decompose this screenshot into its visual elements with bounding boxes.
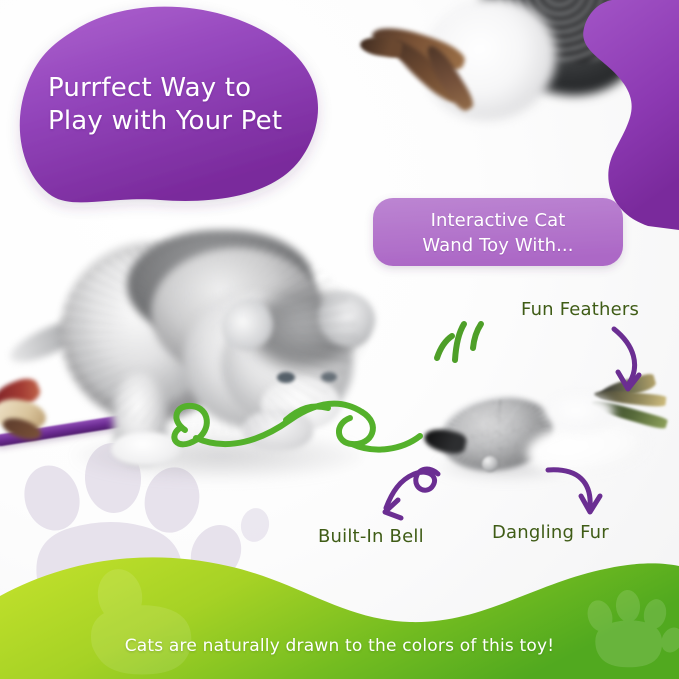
badge-line-2: Wand Toy With...: [378, 234, 618, 259]
infographic-canvas: Purrfect Way to Play with Your Pet Inter…: [0, 0, 679, 679]
callout-label-dangling-fur: Dangling Fur: [492, 522, 609, 543]
headline-line-2: Play with Your Pet: [48, 105, 298, 138]
arrow-feathers: [614, 329, 639, 389]
badge-line-1: Interactive Cat: [378, 209, 618, 234]
footer-tagline: Cats are naturally drawn to the colors o…: [0, 636, 679, 656]
subtitle-badge-text: Interactive Cat Wand Toy With...: [378, 209, 618, 259]
green-curly-string: [174, 404, 420, 450]
arrow-fur: [548, 470, 600, 512]
headline-line-1: Purrfect Way to: [48, 72, 298, 105]
arrow-bell: [385, 469, 438, 518]
callout-label-fun-feathers: Fun Feathers: [521, 299, 639, 320]
callout-label-built-in-bell: Built-In Bell: [318, 526, 424, 547]
right-purple-blob-shape: [583, 0, 679, 230]
green-motion-lines: [437, 324, 481, 360]
headline-text: Purrfect Way to Play with Your Pet: [48, 72, 298, 139]
